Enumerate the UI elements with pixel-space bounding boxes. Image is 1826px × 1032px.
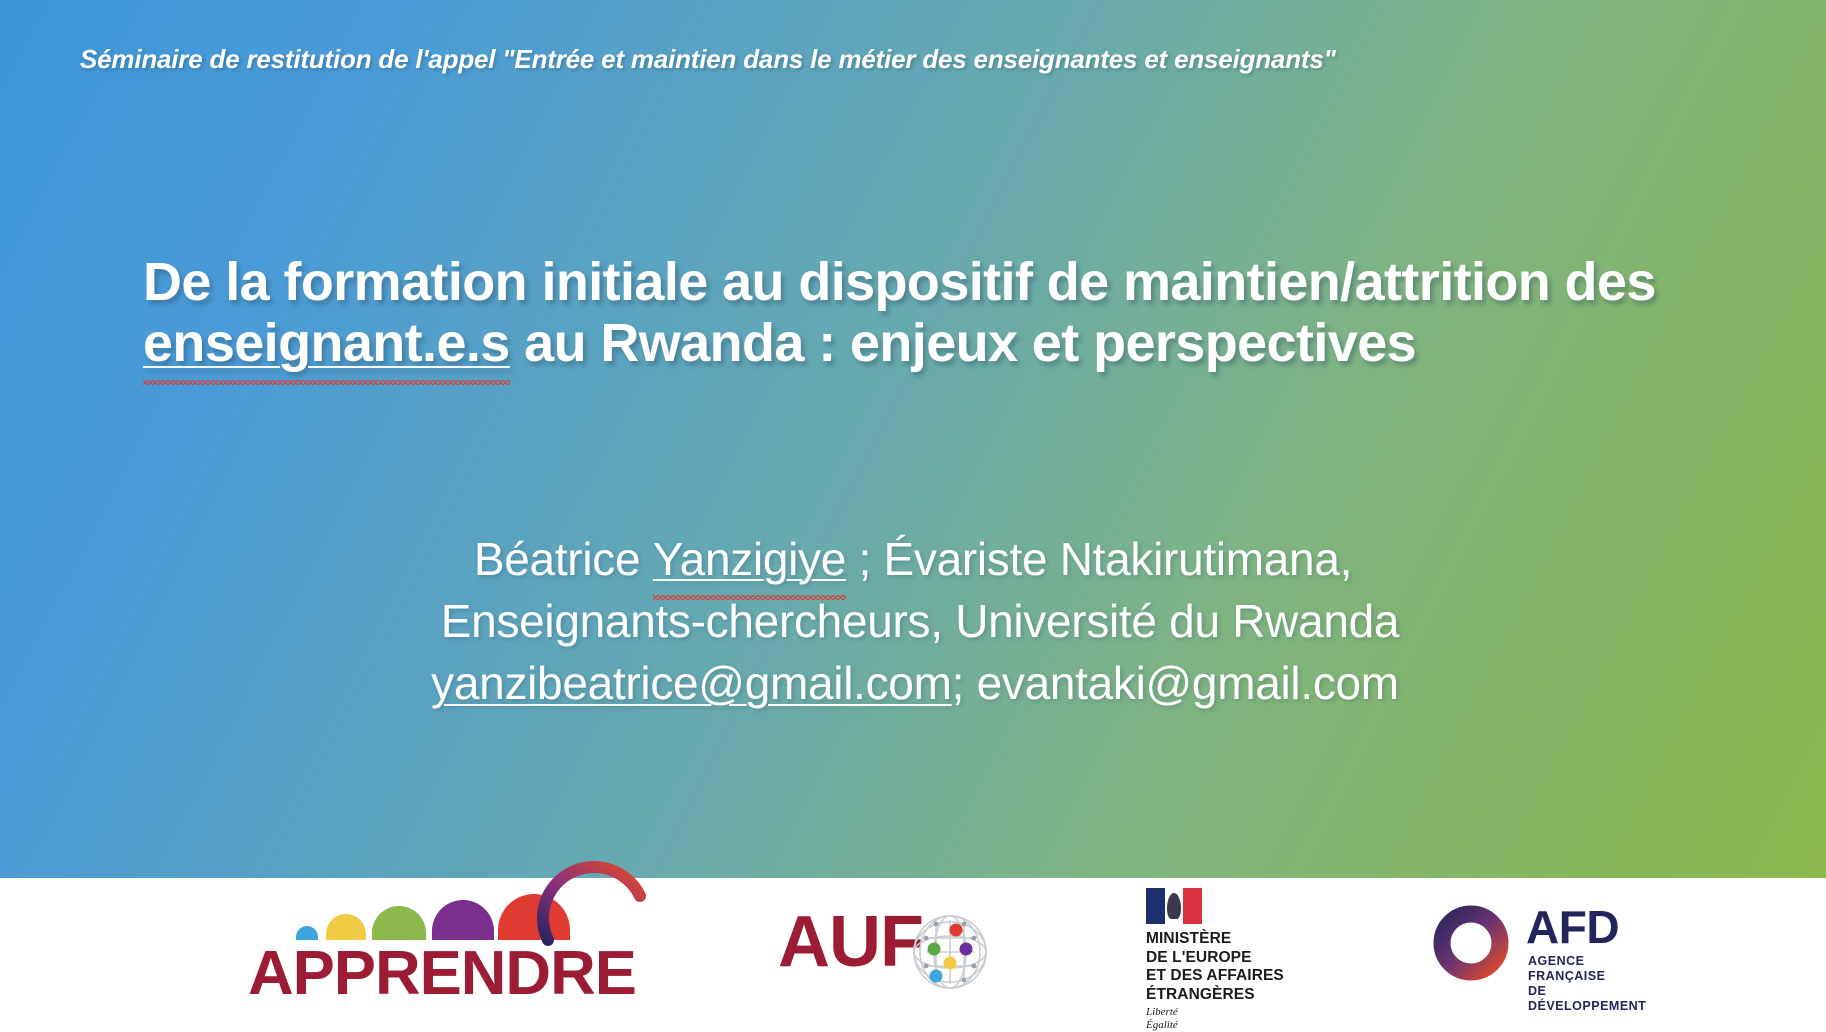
french-flag-marianne-icon xyxy=(1146,888,1202,924)
afd-tagline-line-1: AGENCE FRANÇAISE xyxy=(1528,954,1646,984)
auf-logo: AUF xyxy=(778,900,1008,1004)
author-misspelled-surname: Yanzigiye xyxy=(653,528,846,590)
author-first-name: Béatrice xyxy=(474,533,653,585)
apprendre-arc-icon xyxy=(544,878,664,940)
presentation-slide: Séminaire de restitution de l'appel "Ent… xyxy=(0,0,1826,1032)
ministere-title: MINISTÈRE DE L'EUROPE ET DES AFFAIRES ÉT… xyxy=(1146,930,1284,1004)
apprendre-domes-icon xyxy=(296,896,558,940)
ministere-line-2: DE L'EUROPE xyxy=(1146,949,1284,968)
ministere-logo: MINISTÈRE DE L'EUROPE ET DES AFFAIRES ÉT… xyxy=(1142,888,1332,1026)
slide-background-gradient xyxy=(0,0,1826,878)
authors-email-line: yanzibeatrice@gmail.com; evantaki@gmail.… xyxy=(0,652,1826,714)
afd-tagline: AGENCE FRANÇAISE DE DÉVELOPPEMENT xyxy=(1528,954,1646,1014)
apprendre-logo: APPRENDRE xyxy=(248,890,568,1010)
ministere-line-3: ET DES AFFAIRES xyxy=(1146,967,1284,986)
logo-row: APPRENDRE AUF xyxy=(0,878,1826,1032)
afd-logo: AFD AGENCE FRANÇAISE DE DÉVELOPPEMENT xyxy=(1432,900,1632,1000)
ministere-line-4: ÉTRANGÈRES xyxy=(1146,986,1284,1005)
ministere-devise: Liberté Égalité Fraternité xyxy=(1146,1006,1191,1032)
author-second-name: ; Évariste Ntakirutimana, xyxy=(846,533,1352,585)
seminar-subtitle: Séminaire de restitution de l'appel "Ent… xyxy=(80,44,1680,75)
title-line-2-rest: au Rwanda : enjeux et perspectives xyxy=(510,313,1416,373)
ministere-line-1: MINISTÈRE xyxy=(1146,930,1284,949)
title-line-2: enseignant.e.s au Rwanda : enjeux et per… xyxy=(143,313,1703,374)
email-secondary: ; evantaki@gmail.com xyxy=(952,657,1399,709)
auf-globe-network-icon xyxy=(906,908,994,996)
devise-egalite: Égalité xyxy=(1146,1019,1191,1032)
title-misspelled-word: enseignant.e.s xyxy=(143,313,510,374)
devise-liberte: Liberté xyxy=(1146,1006,1191,1019)
authors-block: Béatrice Yanzigiye ; Évariste Ntakirutim… xyxy=(0,528,1826,714)
afd-tagline-line-2: DE DÉVELOPPEMENT xyxy=(1528,984,1646,1014)
afd-wordmark: AFD xyxy=(1526,904,1619,950)
sponsor-logo-bar: APPRENDRE AUF xyxy=(0,878,1826,1032)
authors-names-line: Béatrice Yanzigiye ; Évariste Ntakirutim… xyxy=(0,528,1826,590)
apprendre-wordmark: APPRENDRE xyxy=(248,938,636,1009)
afd-ring-icon xyxy=(1432,904,1510,982)
email-link-primary[interactable]: yanzibeatrice@gmail.com xyxy=(431,657,951,709)
title-block: De la formation initiale au dispositif d… xyxy=(143,252,1703,374)
title-line-1: De la formation initiale au dispositif d… xyxy=(143,252,1703,313)
auf-wordmark: AUF xyxy=(778,906,923,978)
authors-affiliation-line: Enseignants-chercheurs, Université du Rw… xyxy=(0,590,1826,652)
